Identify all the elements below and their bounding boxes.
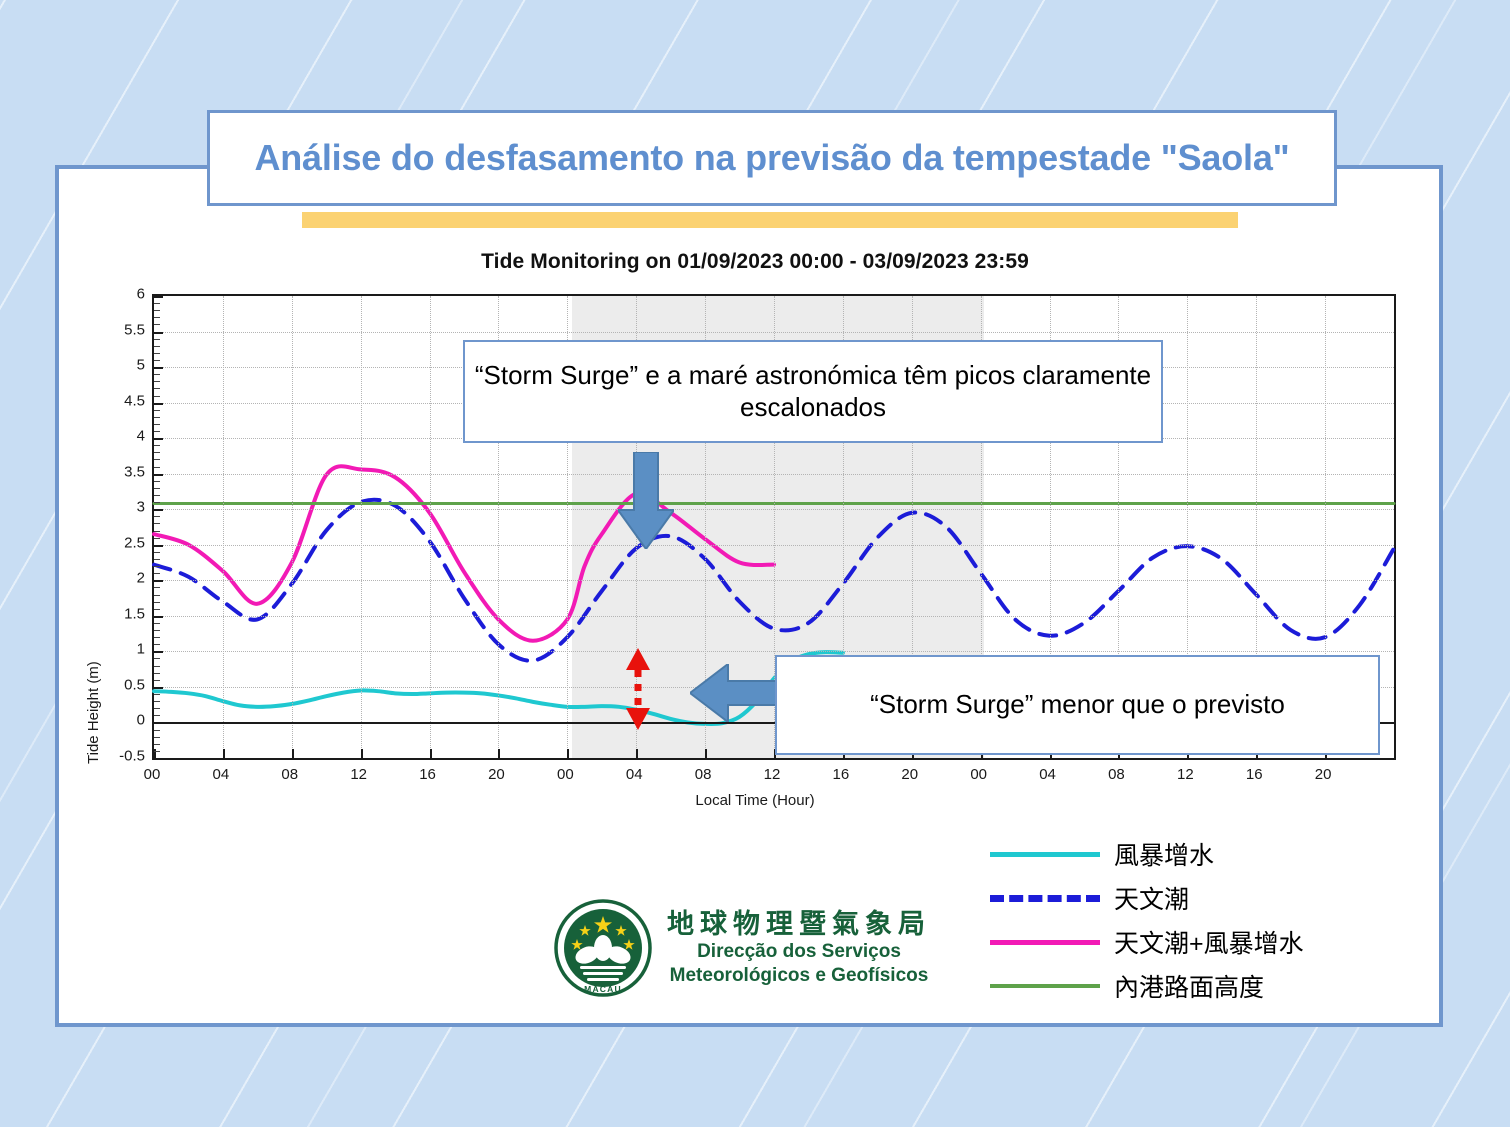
y-tick-label: 2 (137, 570, 145, 587)
y-tick-minor (154, 602, 160, 603)
y-tick (154, 580, 163, 582)
logo-chinese-name: 地球物理暨氣象局 (667, 909, 931, 940)
y-tick-minor (154, 559, 160, 560)
legend-label-tide_plus_surge: 天文潮+風暴增水 (1114, 924, 1304, 960)
y-tick-minor (154, 381, 160, 382)
legend-label-storm_surge: 風暴增水 (1114, 836, 1214, 872)
y-tick-label: -0.5 (119, 748, 145, 765)
x-tick-label: 08 (281, 766, 298, 783)
y-tick-minor (154, 701, 160, 702)
y-tick-label: 3 (137, 499, 145, 516)
y-tick-minor (154, 587, 160, 588)
y-tick (154, 403, 163, 405)
y-tick-minor (154, 467, 160, 468)
x-tick-label: 08 (1108, 766, 1125, 783)
y-tick-minor (154, 495, 160, 496)
legend-label-astronomical_tide: 天文潮 (1114, 880, 1189, 916)
logo-portuguese-line2: Meteorológicos e Geofísicos (667, 964, 931, 987)
annotation-surge-text: “Storm Surge” menor que o previsto (870, 689, 1285, 720)
y-tick-label: 1.5 (124, 605, 145, 622)
y-tick (154, 367, 163, 369)
y-tick (154, 616, 163, 618)
y-tick-minor (154, 502, 160, 503)
series-line-tide_plus_surge (154, 466, 774, 640)
chart-legend: 風暴增水天文潮天文潮+風暴增水內港路面高度 (990, 832, 1350, 1008)
x-axis-title: Local Time (Hour) (0, 792, 1510, 809)
y-tick-minor (154, 388, 160, 389)
y-gridline (154, 332, 1394, 333)
y-tick-label: 1 (137, 641, 145, 658)
x-tick-label: 12 (1177, 766, 1194, 783)
y-tick-label: 3.5 (124, 463, 145, 480)
y-tick-minor (154, 459, 160, 460)
y-tick-minor (154, 516, 160, 517)
y-tick-minor (154, 658, 160, 659)
y-tick-label: 5.5 (124, 321, 145, 338)
x-tick-label: 04 (213, 766, 230, 783)
legend-item-storm_surge[interactable]: 風暴增水 (990, 832, 1350, 876)
y-tick-minor (154, 396, 160, 397)
y-tick-minor (154, 538, 160, 539)
legend-swatch-tide_plus_surge (990, 940, 1100, 945)
x-gridline (223, 296, 224, 758)
x-tick (567, 749, 569, 758)
x-tick-label: 00 (970, 766, 987, 783)
logo-text-block: 地球物理暨氣象局 Direcção dos Serviços Meteoroló… (667, 909, 931, 986)
macau-smg-emblem-icon: MACAU (553, 898, 653, 998)
x-tick-label: 00 (144, 766, 161, 783)
y-tick-minor (154, 324, 160, 325)
x-tick (292, 749, 294, 758)
y-tick (154, 687, 163, 689)
y-tick-minor (154, 644, 160, 645)
accent-bar (302, 212, 1238, 228)
x-gridline (361, 296, 362, 758)
x-tick (705, 749, 707, 758)
y-tick (154, 296, 163, 298)
x-tick-label: 00 (557, 766, 574, 783)
y-tick-minor (154, 431, 160, 432)
x-tick (636, 749, 638, 758)
logo-portuguese-line1: Direcção dos Serviços (667, 940, 931, 963)
y-tick-minor (154, 339, 160, 340)
y-tick-label: 4 (137, 428, 145, 445)
y-tick-minor (154, 737, 160, 738)
y-tick-minor (154, 488, 160, 489)
x-tick-label: 20 (1315, 766, 1332, 783)
y-tick-minor (154, 353, 160, 354)
y-tick (154, 474, 163, 476)
y-tick-minor (154, 303, 160, 304)
x-tick-label: 16 (833, 766, 850, 783)
legend-item-astronomical_tide[interactable]: 天文潮 (990, 876, 1350, 920)
annotation-peaks: “Storm Surge” e a maré astronómica têm p… (463, 340, 1163, 443)
y-tick-minor (154, 360, 160, 361)
legend-label-inner_harbour_road_level: 內港路面高度 (1114, 968, 1264, 1004)
y-tick-minor (154, 673, 160, 674)
x-tick (223, 749, 225, 758)
y-gridline (154, 651, 1394, 652)
x-tick (498, 749, 500, 758)
legend-item-tide_plus_surge[interactable]: 天文潮+風暴增水 (990, 920, 1350, 964)
y-tick-minor (154, 410, 160, 411)
legend-swatch-storm_surge (990, 852, 1100, 857)
x-tick-label: 16 (1246, 766, 1263, 783)
x-gridline (292, 296, 293, 758)
y-tick-minor (154, 623, 160, 624)
slide-title-box: Análise do desfasamento na previsão da t… (207, 110, 1337, 206)
y-tick-minor (154, 523, 160, 524)
y-tick-minor (154, 730, 160, 731)
x-tick (361, 749, 363, 758)
y-tick-minor (154, 424, 160, 425)
y-tick (154, 758, 163, 760)
x-tick (430, 749, 432, 758)
y-tick-minor (154, 637, 160, 638)
y-tick (154, 651, 163, 653)
y-tick-minor (154, 566, 160, 567)
y-tick-minor (154, 715, 160, 716)
y-tick-minor (154, 666, 160, 667)
y-tick-label: 4.5 (124, 392, 145, 409)
y-tick-label: 0 (137, 712, 145, 729)
legend-item-inner_harbour_road_level[interactable]: 內港路面高度 (990, 964, 1350, 1008)
y-tick (154, 332, 163, 334)
x-tick-label: 04 (1039, 766, 1056, 783)
y-tick-minor (154, 609, 160, 610)
y-tick-minor (154, 744, 160, 745)
y-tick-minor (154, 417, 160, 418)
y-tick-minor (154, 374, 160, 375)
y-tick-label: 2.5 (124, 534, 145, 551)
y-tick-minor (154, 630, 160, 631)
y-tick (154, 509, 163, 511)
y-tick-minor (154, 552, 160, 553)
x-tick-label: 20 (901, 766, 918, 783)
y-tick-minor (154, 573, 160, 574)
y-gridline (154, 580, 1394, 581)
y-tick-minor (154, 531, 160, 532)
x-tick-label: 12 (350, 766, 367, 783)
page-title: Análise do desfasamento na previsão da t… (238, 136, 1305, 180)
y-tick-label: 5 (137, 357, 145, 374)
y-tick-minor (154, 317, 160, 318)
annotation-surge: “Storm Surge” menor que o previsto (775, 655, 1380, 755)
y-gridline (154, 616, 1394, 617)
y-tick-minor (154, 445, 160, 446)
y-gridline (154, 545, 1394, 546)
y-tick-label: 6 (137, 286, 145, 303)
y-tick (154, 438, 163, 440)
x-axis-tick-labels: 000408121620000408121620000408121620 (152, 766, 1396, 790)
y-axis-tick-labels: 65.554.543.532.521.510.50-0.5 (88, 294, 146, 760)
y-tick-minor (154, 310, 160, 311)
legend-swatch-astronomical_tide (990, 895, 1100, 902)
y-tick-minor (154, 680, 160, 681)
left-arrow-icon (690, 664, 786, 722)
y-tick-minor (154, 481, 160, 482)
x-tick-label: 08 (695, 766, 712, 783)
organization-logo: MACAU 地球物理暨氣象局 Direcção dos Serviços Met… (553, 898, 931, 998)
y-tick-label: 0.5 (124, 676, 145, 693)
y-tick-minor (154, 595, 160, 596)
svg-text:MACAU: MACAU (584, 984, 622, 994)
down-arrow-icon (618, 452, 674, 549)
x-tick-label: 12 (764, 766, 781, 783)
red-double-arrow-icon (624, 648, 652, 730)
legend-swatch-inner_harbour_road_level (990, 984, 1100, 988)
x-tick-label: 20 (488, 766, 505, 783)
y-tick-minor (154, 346, 160, 347)
y-tick-minor (154, 452, 160, 453)
y-tick-minor (154, 751, 160, 752)
y-tick-minor (154, 708, 160, 709)
annotation-peaks-text: “Storm Surge” e a maré astronómica têm p… (465, 360, 1161, 422)
y-tick (154, 545, 163, 547)
x-tick-label: 16 (419, 766, 436, 783)
y-gridline (154, 474, 1394, 475)
y-tick-minor (154, 694, 160, 695)
y-gridline (154, 509, 1394, 510)
x-gridline (430, 296, 431, 758)
x-tick-label: 04 (626, 766, 643, 783)
